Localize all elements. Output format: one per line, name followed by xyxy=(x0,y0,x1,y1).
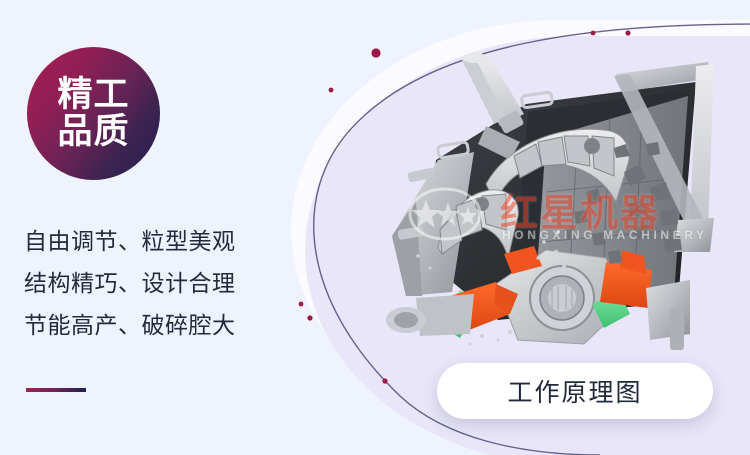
feature-line-1: 自由调节、粒型美观 xyxy=(24,220,286,262)
arc-dot-small-top-b xyxy=(625,30,630,35)
caption-pill-label: 工作原理图 xyxy=(507,373,642,409)
badge-line-2: 品质 xyxy=(57,114,129,150)
feature-list: 自由调节、粒型美观 结构精巧、设计合理 节能高产、破碎腔大 xyxy=(24,220,286,346)
arc-dot-small-upper-left xyxy=(329,88,334,93)
badge-line-1: 精工 xyxy=(57,77,129,113)
feature-line-2: 结构精巧、设计合理 xyxy=(24,262,286,304)
caption-pill[interactable]: 工作原理图 xyxy=(437,363,713,419)
quality-badge: 精工 品质 xyxy=(27,47,160,180)
arc-dot-small-bottom xyxy=(382,378,387,383)
arc-dot-small-top-a xyxy=(591,31,596,36)
accent-bar xyxy=(26,388,86,392)
arc-dot-small-lower-b xyxy=(307,315,312,320)
impact-crusher-cutaway xyxy=(378,52,718,352)
promo-banner: 红星机器 HONGXING MACHINERY 精工 品质 自由调节、粒型美观 … xyxy=(0,0,750,455)
feature-line-3: 节能高产、破碎腔大 xyxy=(24,304,286,346)
arc-dot-small-lower-a xyxy=(299,302,304,307)
